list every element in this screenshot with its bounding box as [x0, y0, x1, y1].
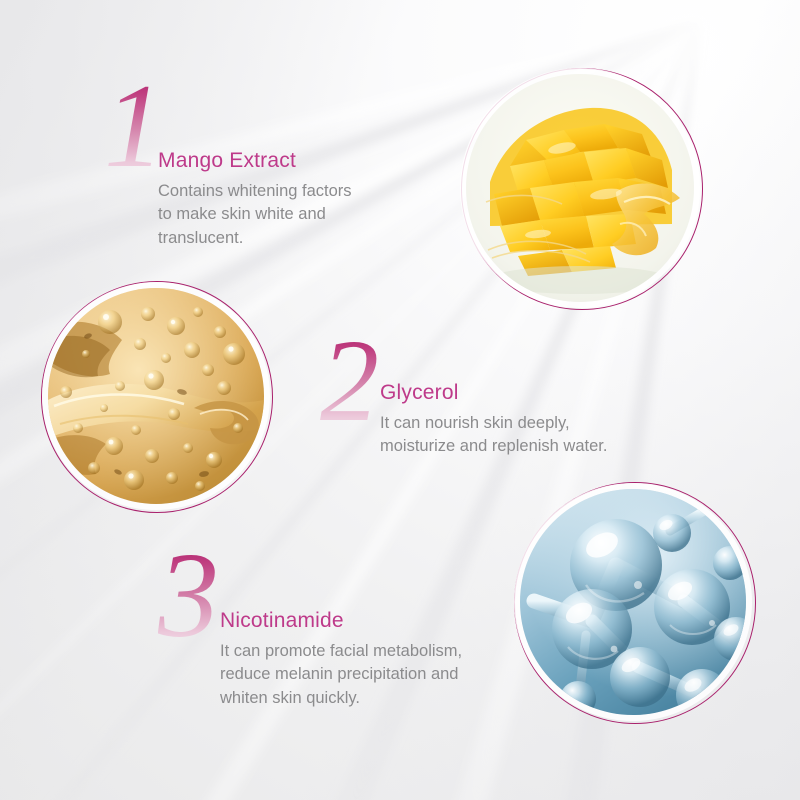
mango-cubes-photo: [466, 74, 694, 302]
step-number-2: 2: [320, 322, 379, 440]
step-number-1: 1: [104, 66, 164, 186]
ingredient-title-2: Glycerol: [380, 381, 680, 405]
step-number-3: 3: [158, 535, 219, 657]
ingredient-block-1: Mango Extract Contains whitening factors…: [158, 149, 428, 250]
blue-molecule-photo: [520, 489, 746, 715]
ingredient-description-3: It can promote facial metabolism, reduce…: [220, 640, 540, 710]
ingredient-block-3: Nicotinamide It can promote facial metab…: [220, 609, 540, 710]
ingredient-description-1: Contains whitening factors to make skin …: [158, 180, 428, 250]
ingredient-title-3: Nicotinamide: [220, 609, 540, 633]
ingredient-title-1: Mango Extract: [158, 149, 428, 173]
ingredient-description-2: It can nourish skin deeply, moisturize a…: [380, 412, 680, 459]
golden-gel-photo: [48, 288, 264, 504]
ingredient-block-2: Glycerol It can nourish skin deeply, moi…: [380, 381, 680, 459]
infographic-canvas: 1 Mango Extract Contains whitening facto…: [0, 0, 800, 800]
